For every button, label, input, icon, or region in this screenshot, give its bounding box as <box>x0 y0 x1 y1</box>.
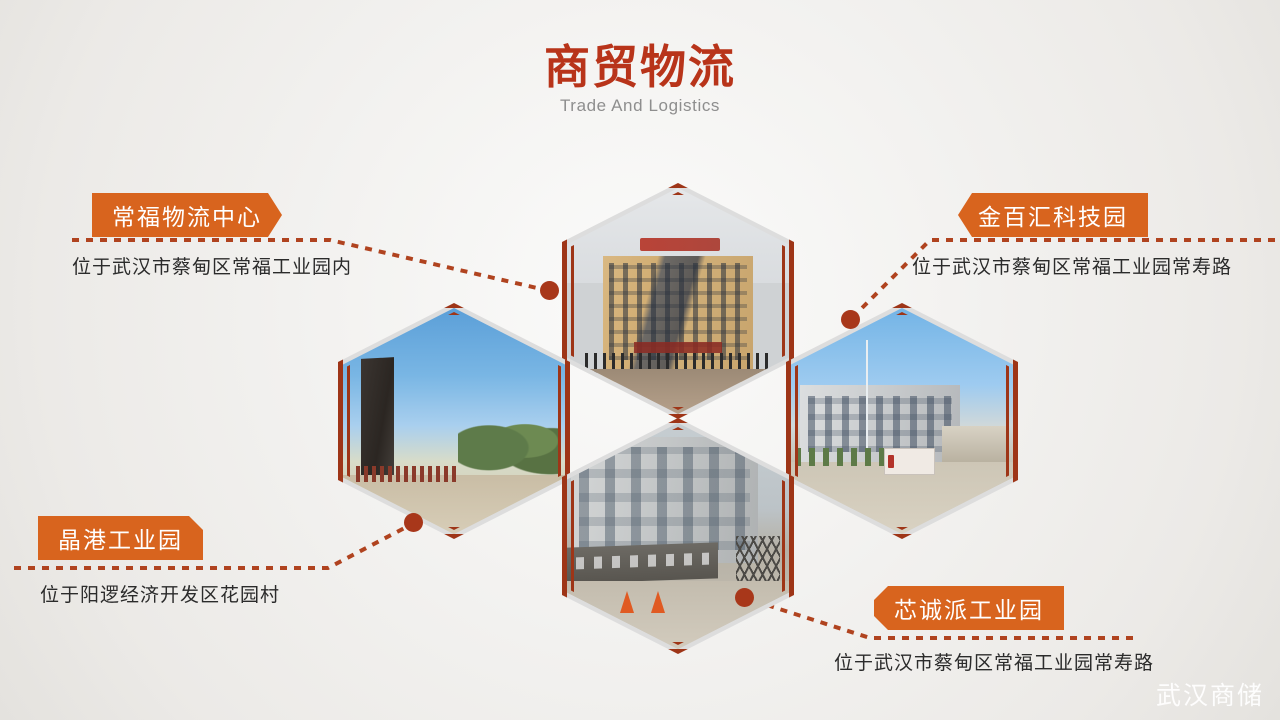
label-tag-jinggang-industrial-park[interactable]: 晶港工业园 <box>38 516 203 560</box>
description-jinbaihui-tech-park: 位于武汉市蔡甸区常福工业园常寿路 <box>912 252 1232 279</box>
label-tag-changfu-logistics-center[interactable]: 常福物流中心 <box>92 193 282 237</box>
connector-dot-jinggang <box>404 513 423 532</box>
description-jinggang-industrial-park: 位于阳逻经济开发区花园村 <box>40 580 280 607</box>
connector-dot-changfu <box>540 281 559 300</box>
label-tag-xinchengpai-industrial-park[interactable]: 芯诚派工业园 <box>874 586 1064 630</box>
slide-canvas: 商贸物流 Trade And Logistics <box>0 0 1280 720</box>
connector-dot-jinbaihui <box>841 310 860 329</box>
connector-dot-xinchengpai <box>735 588 754 607</box>
description-xinchengpai-industrial-park: 位于武汉市蔡甸区常福工业园常寿路 <box>834 648 1154 675</box>
label-tag-jinbaihui-tech-park[interactable]: 金百汇科技园 <box>958 193 1148 237</box>
watermark: 武汉商储 <box>1156 676 1264 712</box>
description-changfu-logistics-center: 位于武汉市蔡甸区常福工业园内 <box>72 252 352 279</box>
